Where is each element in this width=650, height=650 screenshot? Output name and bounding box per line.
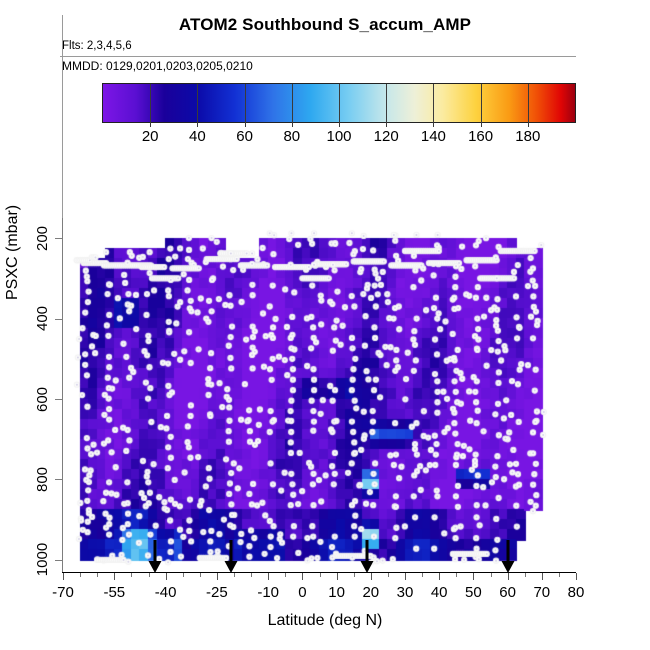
colorbar-tick-stub bbox=[386, 122, 387, 127]
x-axis-minor-tick bbox=[559, 573, 560, 577]
x-axis-tick-label: 70 bbox=[533, 584, 550, 601]
colorbar-tick bbox=[481, 84, 482, 122]
x-axis-tick bbox=[114, 573, 115, 580]
x-axis-minor-tick bbox=[388, 573, 389, 577]
colorbar-tick bbox=[386, 84, 387, 122]
x-axis-minor-tick bbox=[525, 573, 526, 577]
x-axis-tick bbox=[166, 573, 167, 580]
colorbar-tick-label: 100 bbox=[326, 128, 351, 145]
y-axis-tick-label: 800 bbox=[34, 467, 51, 492]
x-axis-minor-tick bbox=[80, 573, 81, 577]
colorbar-tick-stub bbox=[339, 122, 340, 127]
x-axis-minor-tick bbox=[456, 573, 457, 577]
x-axis-tick bbox=[405, 573, 406, 580]
flight-marker-arrow bbox=[360, 540, 374, 579]
colorbar-tick-stub bbox=[245, 122, 246, 127]
flights-label: Flts: 2,3,4,5,6 bbox=[62, 40, 132, 52]
x-axis-minor-tick bbox=[354, 573, 355, 577]
x-axis-tick bbox=[268, 573, 269, 580]
x-axis-tick-label: 60 bbox=[499, 584, 516, 601]
colorbar-tick-label: 40 bbox=[189, 128, 206, 145]
x-axis-tick-label: 20 bbox=[362, 584, 379, 601]
colorbar-tick bbox=[245, 84, 246, 122]
colorbar-tick-stub bbox=[197, 122, 198, 127]
x-axis-tick bbox=[63, 573, 64, 580]
flight-marker-arrow bbox=[224, 540, 238, 579]
y-axis-line bbox=[62, 218, 63, 572]
colorbar-tick-label: 180 bbox=[515, 128, 540, 145]
colorbar-tick bbox=[292, 84, 293, 122]
colorbar-tick-label: 140 bbox=[421, 128, 446, 145]
x-axis-minor-tick bbox=[491, 573, 492, 577]
colorbar-tick bbox=[339, 84, 340, 122]
colorbar-tick bbox=[528, 84, 529, 122]
heatmap-canvas bbox=[63, 218, 576, 572]
flight-marker-arrow bbox=[501, 540, 515, 579]
colorbar-tick-stub bbox=[292, 122, 293, 127]
x-axis-tick-label: 80 bbox=[568, 584, 585, 601]
x-axis-minor-tick bbox=[200, 573, 201, 577]
y-axis-title: PSXC (mbar) bbox=[4, 205, 22, 300]
x-axis-tick bbox=[439, 573, 440, 580]
colorbar-tick-label: 160 bbox=[468, 128, 493, 145]
colorbar-tick-stub bbox=[433, 122, 434, 127]
dates-label: MMDD: 0129,0201,0203,0205,0210 bbox=[62, 59, 253, 73]
heatmap-plot bbox=[63, 218, 576, 572]
colorbar-tick-label: 60 bbox=[236, 128, 253, 145]
colorbar-tick bbox=[433, 84, 434, 122]
colorbar-tick-stub bbox=[528, 122, 529, 127]
x-axis-tick bbox=[217, 573, 218, 580]
annotation-divider bbox=[60, 56, 576, 57]
y-axis-tick bbox=[55, 399, 63, 400]
x-axis-tick-label: 30 bbox=[397, 584, 414, 601]
colorbar-tick bbox=[197, 84, 198, 122]
x-axis-minor-tick bbox=[183, 573, 184, 577]
x-axis-tick-label: 0 bbox=[298, 584, 306, 601]
x-axis-minor-tick bbox=[131, 573, 132, 577]
x-axis-tick bbox=[542, 573, 543, 580]
y-axis-tick-label: 200 bbox=[34, 226, 51, 251]
x-axis-tick-label: 10 bbox=[328, 584, 345, 601]
x-axis-tick bbox=[473, 573, 474, 580]
x-axis-minor-tick bbox=[422, 573, 423, 577]
x-axis-tick bbox=[576, 573, 577, 580]
y-axis-tick-label: 400 bbox=[34, 306, 51, 331]
y-axis-tick bbox=[55, 479, 63, 480]
x-axis-tick-label: -70 bbox=[52, 584, 74, 601]
colorbar-tick-label: 20 bbox=[142, 128, 159, 145]
colorbar-tick-stub bbox=[150, 122, 151, 127]
y-axis-line-upper bbox=[62, 15, 63, 218]
page-title: ATOM2 Southbound S_accum_AMP bbox=[0, 15, 650, 35]
x-axis-minor-tick bbox=[285, 573, 286, 577]
x-axis-tick-label: 40 bbox=[431, 584, 448, 601]
x-axis-title: Latitude (deg N) bbox=[0, 612, 650, 630]
colorbar-tick-label: 80 bbox=[283, 128, 300, 145]
x-axis-minor-tick bbox=[251, 573, 252, 577]
flight-marker-arrow bbox=[148, 540, 162, 579]
colorbar-tick-label: 120 bbox=[374, 128, 399, 145]
x-axis-tick bbox=[302, 573, 303, 580]
y-axis-tick-label: 1000 bbox=[34, 543, 51, 576]
x-axis-tick-label: 50 bbox=[465, 584, 482, 601]
x-axis-tick-label: -25 bbox=[206, 584, 228, 601]
y-axis-tick bbox=[55, 238, 63, 239]
x-axis-tick-label: -40 bbox=[155, 584, 177, 601]
x-axis-minor-tick bbox=[320, 573, 321, 577]
colorbar-tick-stub bbox=[481, 122, 482, 127]
x-axis-tick-label: -10 bbox=[257, 584, 279, 601]
x-axis-minor-tick bbox=[97, 573, 98, 577]
x-axis-tick-label: -55 bbox=[103, 584, 125, 601]
y-axis-tick bbox=[55, 560, 63, 561]
x-axis-tick bbox=[337, 573, 338, 580]
y-axis-tick bbox=[55, 319, 63, 320]
colorbar-tick bbox=[150, 84, 151, 122]
y-axis-tick-label: 600 bbox=[34, 387, 51, 412]
